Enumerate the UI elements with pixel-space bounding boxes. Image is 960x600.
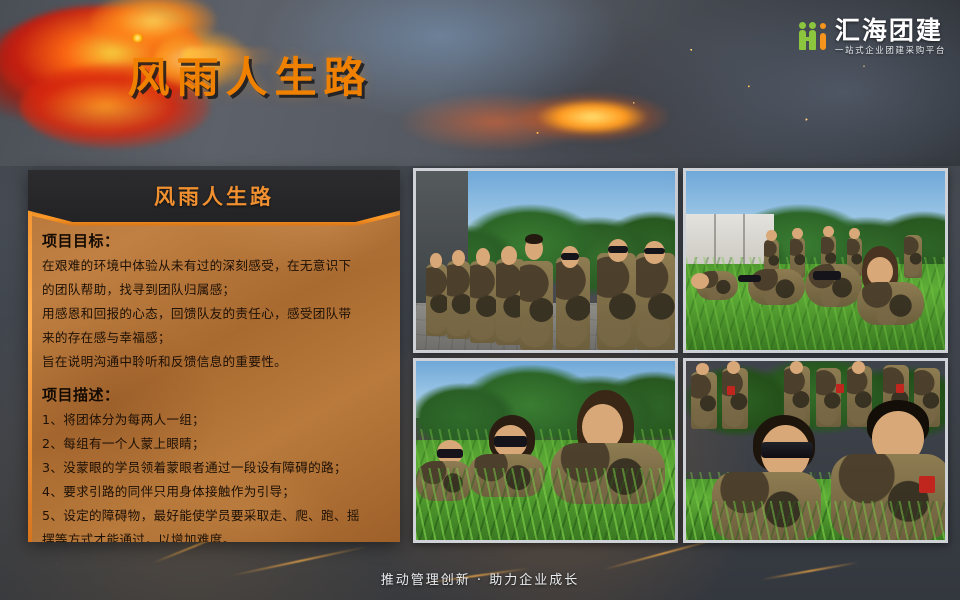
description-line: 摆等方式才能通过，以增加难度。: [42, 528, 388, 542]
footer-slogan: 推动管理创新 · 助力企业成长: [381, 569, 579, 588]
objective-line: 来的存在感与幸福感；: [42, 326, 388, 350]
hi-people-icon: [798, 22, 828, 52]
description-line: 5、设定的障碍物，最好能使学员要采取走、爬、跑、摇: [42, 504, 388, 528]
panel-accent-edge: [28, 170, 32, 542]
panel-header: 风雨人生路: [28, 170, 400, 222]
logo-name: 汇海团建: [835, 18, 946, 43]
objective-line: 旨在说明沟通中聆听和反馈信息的重要性。: [42, 350, 388, 374]
objective-line: 在艰难的环境中体验从未有过的深刻感受，在无意识下: [42, 254, 388, 278]
description-line: 1、将团体分为每两人一组；: [42, 408, 388, 432]
description-label: 项目描述：: [42, 384, 388, 405]
description-line: 3、没蒙眼的学员领着蒙眼者通过一段设有障碍的路；: [42, 456, 388, 480]
panel-body: 项目目标： 在艰难的环境中体验从未有过的深刻感受，在无意识下 的团队帮助，找寻到…: [42, 228, 388, 542]
photo-grid: [413, 168, 948, 543]
header-band: 风雨人生路 汇海团建 一站式企业团建采购平台: [0, 0, 960, 166]
footer: 推动管理创新 · 助力企业成长: [0, 556, 960, 600]
photo-team-lineup[interactable]: [413, 168, 678, 353]
photo-crawling-wall[interactable]: [683, 168, 948, 353]
objective-label: 项目目标：: [42, 230, 388, 251]
description-line: 2、每组有一个人蒙上眼睛；: [42, 432, 388, 456]
slide: 风雨人生路 汇海团建 一站式企业团建采购平台 风雨人生路 项目目标： 在艰难的环…: [0, 0, 960, 600]
objective-line: 用感恩和回报的心态，回馈队友的责任心，感受团队带: [42, 302, 388, 326]
panel-header-title: 风雨人生路: [154, 181, 274, 211]
photo-grass-closeup[interactable]: [413, 358, 678, 543]
content-panel: 风雨人生路 项目目标： 在艰难的环境中体验从未有过的深刻感受，在无意识下 的团队…: [28, 170, 400, 542]
logo-subtitle: 一站式企业团建采购平台: [835, 47, 946, 56]
brand-logo[interactable]: 汇海团建 一站式企业团建采购平台: [798, 18, 946, 56]
photo-blindfold-pair[interactable]: [683, 358, 948, 543]
page-title: 风雨人生路: [0, 44, 500, 105]
objective-line: 的团队帮助，找寻到团队归属感；: [42, 278, 388, 302]
description-line: 4、要求引路的同伴只用身体接触作为引导；: [42, 480, 388, 504]
